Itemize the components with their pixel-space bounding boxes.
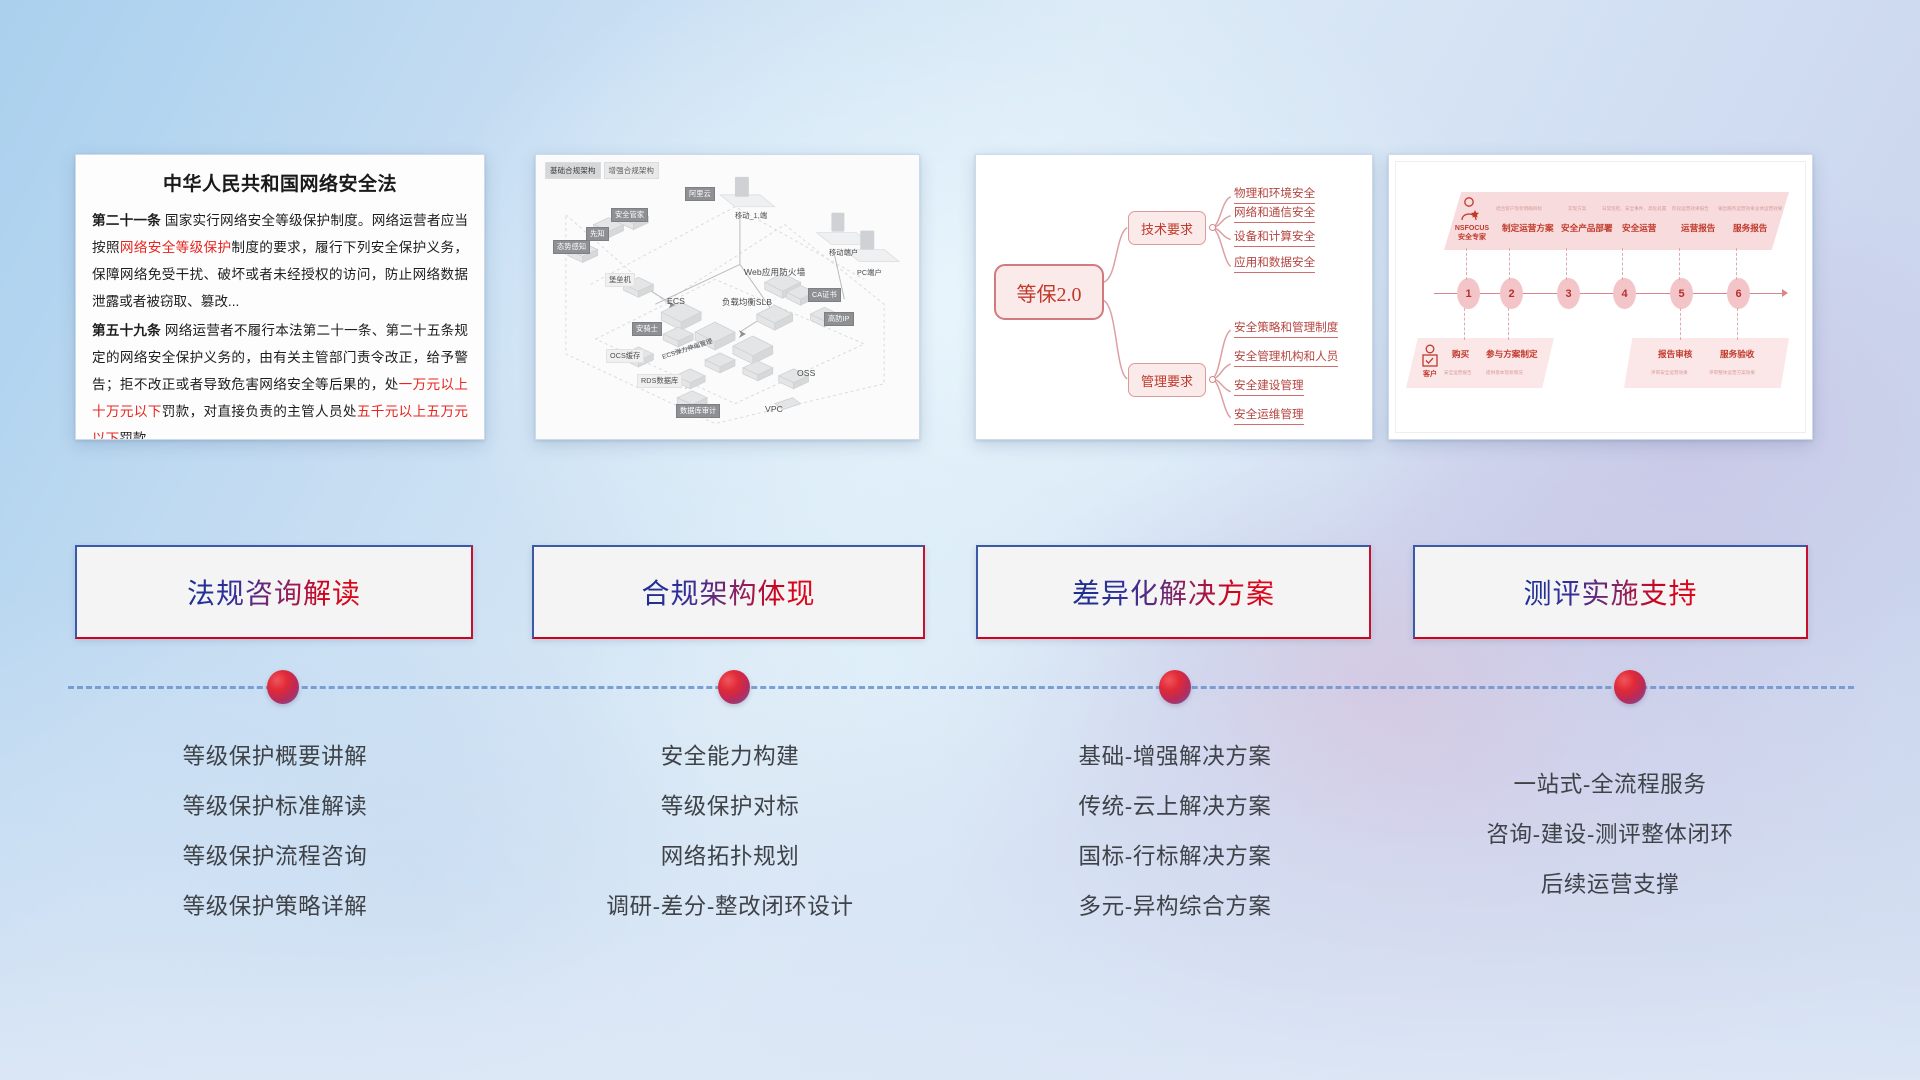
architecture-node-oss: OSS bbox=[794, 367, 818, 379]
customer-person-icon bbox=[1419, 344, 1441, 370]
section-title-box-1[interactable]: 法规咨询解读 bbox=[75, 545, 473, 639]
architecture-node-db-audit: 数据库审计 bbox=[676, 404, 720, 418]
timeline-step-2[interactable]: 2 bbox=[1500, 278, 1523, 309]
preview-cards-row: 中华人民共和国网络安全法 第二十一条 国家实行网络安全等级保护制度。网络运营者应… bbox=[0, 154, 1920, 444]
architecture-node-anqishi: 安骑士 bbox=[632, 322, 662, 336]
architecture-canvas: 基础合规架构 增强合规架构 阿里云 安全管家 先知 态势感知 堡垒机 移动_1,… bbox=[536, 155, 919, 439]
architecture-node-bastion: 堡垒机 bbox=[605, 273, 635, 287]
timeline-top-sub-4: 阶段运营效果报告 bbox=[1672, 206, 1709, 212]
law-article-21-label: 第二十一条 bbox=[92, 213, 161, 228]
timeline-bottom-title-2: 参与方案制定 bbox=[1486, 348, 1538, 360]
timeline-bottom-title-3: 报告审核 bbox=[1658, 348, 1692, 360]
card-service-timeline[interactable]: NSFOCUS 安全专家 客户 制定运营方案 结合客户现状明确目标 安全产品部署… bbox=[1388, 154, 1813, 440]
list-item: 等级保护流程咨询 bbox=[75, 832, 475, 882]
list-item: 国标-行标解决方案 bbox=[965, 832, 1385, 882]
list-item: 后续运营支撑 bbox=[1400, 860, 1820, 910]
section-list-4: 一站式-全流程服务 咨询-建设-测评整体闭环 后续运营支撑 bbox=[1400, 760, 1820, 910]
timeline-top-title-4: 运营报告 bbox=[1681, 222, 1715, 234]
list-item: 基础-增强解决方案 bbox=[965, 732, 1385, 782]
architecture-node-security-mgr: 安全管家 bbox=[611, 208, 648, 222]
law-article-59-label: 第五十九条 bbox=[92, 323, 161, 338]
architecture-node-slb: 负载均衡SLB bbox=[719, 295, 775, 309]
timeline-step-1[interactable]: 1 bbox=[1457, 278, 1480, 309]
mindmap-leaf-policy: 安全策略和管理制度 bbox=[1234, 320, 1338, 338]
timeline-leader-6 bbox=[1736, 248, 1737, 280]
timeline-top-sub-5: 输出服务运营效果总体运营效果 bbox=[1718, 206, 1782, 212]
mindmap-root-node: 等保2.0 bbox=[994, 264, 1104, 320]
expert-person-icon bbox=[1458, 196, 1482, 222]
section-title-box-3[interactable]: 差异化解决方案 bbox=[976, 545, 1371, 639]
list-item: 等级保护标准解读 bbox=[75, 782, 475, 832]
timeline-bottom-sub-1: 安全运营报告 bbox=[1444, 370, 1472, 376]
timeline-bottom-sub-2: 提供基本现状情况 bbox=[1486, 370, 1523, 376]
mindmap-branch-technical: 技术要求 bbox=[1128, 211, 1206, 245]
persona-expert-line1: NSFOCUS bbox=[1455, 225, 1489, 232]
timeline-dashed-line bbox=[68, 686, 1854, 689]
architecture-node-antiddos: 高防IP bbox=[824, 312, 854, 326]
section-title-label-3: 差异化解决方案 bbox=[1072, 572, 1275, 612]
timeline-step-4[interactable]: 4 bbox=[1613, 278, 1636, 309]
architecture-node-situational: 态势感知 bbox=[553, 240, 590, 254]
timeline-marker-3[interactable] bbox=[1159, 670, 1191, 704]
mindmap-leaf-device: 设备和计算安全 bbox=[1234, 229, 1315, 247]
architecture-tab-basic[interactable]: 基础合规架构 bbox=[545, 162, 601, 179]
mindmap-leaf-build: 安全建设管理 bbox=[1234, 378, 1304, 396]
mindmap-branch-management: 管理要求 bbox=[1128, 363, 1206, 397]
timeline-top-sub-3: 日常巡检、安全事件、高危处置 bbox=[1602, 206, 1666, 212]
list-item: 等级保护策略详解 bbox=[75, 882, 475, 932]
section-title-box-2[interactable]: 合规架构体现 bbox=[532, 545, 925, 639]
card-architecture-diagram[interactable]: 基础合规架构 增强合规架构 阿里云 安全管家 先知 态势感知 堡垒机 移动_1,… bbox=[535, 154, 920, 440]
list-item: 网络拓扑规划 bbox=[520, 832, 940, 882]
timeline-leader-b4 bbox=[1737, 308, 1738, 340]
persona-expert-line2: 安全专家 bbox=[1458, 234, 1486, 241]
architecture-node-vpc: VPC bbox=[762, 403, 786, 415]
timeline-step-3[interactable]: 3 bbox=[1557, 278, 1580, 309]
timeline-leader-3 bbox=[1566, 248, 1567, 280]
timeline-arrow-head bbox=[1782, 289, 1788, 297]
list-item: 调研-差分-整改闭环设计 bbox=[520, 882, 940, 932]
architecture-node-mobile-end: 移动_1,端 bbox=[732, 210, 770, 222]
timeline-top-title-5: 服务报告 bbox=[1733, 222, 1767, 234]
section-title-label-2: 合规架构体现 bbox=[641, 572, 815, 612]
timeline-step-5[interactable]: 5 bbox=[1670, 278, 1693, 309]
mindmap-leaf-org: 安全管理机构和人员 bbox=[1234, 349, 1338, 367]
timeline-marker-1[interactable] bbox=[267, 670, 299, 704]
architecture-node-ocs: OCS缓存 bbox=[606, 349, 644, 363]
architecture-tab-enhanced[interactable]: 增强合规架构 bbox=[604, 162, 660, 179]
timeline-leader-b3 bbox=[1680, 308, 1681, 340]
timeline-marker-2[interactable] bbox=[718, 670, 750, 704]
architecture-node-rds: RDS数据库 bbox=[637, 374, 682, 388]
mindmap-canvas: 等保2.0 技术要求 管理要求 物理和环境安全 网络和通信安全 设备和计算安全 … bbox=[976, 155, 1372, 439]
timeline-top-title-2: 安全产品部署 bbox=[1561, 222, 1613, 234]
architecture-node-waf: Web应用防火墙 bbox=[741, 265, 808, 279]
timeline-track bbox=[68, 686, 1854, 689]
architecture-node-ca: CA证书 bbox=[808, 288, 841, 302]
architecture-node-mobile-user: 移动端户 bbox=[826, 247, 861, 259]
timeline-bottom-sub-3: 评审安全运营效果 bbox=[1651, 370, 1688, 376]
section-titles-row: 法规咨询解读 合规架构体现 差异化解决方案 测评实施支持 bbox=[0, 545, 1920, 643]
list-item: 等级保护对标 bbox=[520, 782, 940, 832]
list-item: 咨询-建设-测评整体闭环 bbox=[1400, 810, 1820, 860]
law-article-21-highlight: 网络安全等级保护 bbox=[120, 240, 232, 255]
mindmap-leaf-physical: 物理和环境安全 bbox=[1234, 186, 1315, 204]
mindmap-leaf-app-data: 应用和数据安全 bbox=[1234, 255, 1315, 273]
timeline-bottom-sub-4: 评审整体运营方案效果 bbox=[1709, 370, 1755, 376]
timeline-step-6[interactable]: 6 bbox=[1727, 278, 1750, 309]
timeline-top-sub-1: 结合客户现状明确目标 bbox=[1496, 206, 1542, 212]
architecture-node-ecs: ECS bbox=[664, 295, 688, 307]
section-list-2: 安全能力构建 等级保护对标 网络拓扑规划 调研-差分-整改闭环设计 bbox=[520, 732, 940, 932]
architecture-node-pc-user: PC端户 bbox=[854, 267, 885, 279]
law-title: 中华人民共和国网络安全法 bbox=[92, 169, 468, 196]
law-article-59-text-b: 罚款，对直接负责的主管人员处 bbox=[162, 404, 357, 419]
persona-expert-label: NSFOCUS 安全专家 bbox=[1448, 224, 1496, 242]
law-article-21: 第二十一条 国家实行网络安全等级保护制度。网络运营者应当按照网络安全等级保护制度… bbox=[92, 207, 468, 315]
card-law-document[interactable]: 中华人民共和国网络安全法 第二十一条 国家实行网络安全等级保护制度。网络运营者应… bbox=[75, 154, 485, 440]
mindmap-leaf-ops: 安全运维管理 bbox=[1234, 407, 1304, 425]
timeline-top-title-3: 安全运营 bbox=[1622, 222, 1656, 234]
timeline-top-sub-2: 实现方案 bbox=[1568, 206, 1586, 212]
timeline-bottom-title-1: 购买 bbox=[1452, 348, 1469, 360]
section-lists-row: 等级保护概要讲解 等级保护标准解读 等级保护流程咨询 等级保护策略详解 安全能力… bbox=[0, 732, 1920, 1012]
timeline-marker-4[interactable] bbox=[1614, 670, 1646, 704]
timeline-leader-4 bbox=[1622, 248, 1623, 280]
list-item: 安全能力构建 bbox=[520, 732, 940, 782]
section-title-label-1: 法规咨询解读 bbox=[187, 572, 361, 612]
timeline-leader-1 bbox=[1466, 248, 1467, 280]
section-list-3: 基础-增强解决方案 传统-云上解决方案 国标-行标解决方案 多元-异构综合方案 bbox=[965, 732, 1385, 932]
section-title-box-4[interactable]: 测评实施支持 bbox=[1413, 545, 1808, 639]
mindmap-collapse-dot-technical[interactable] bbox=[1209, 224, 1216, 231]
timeline-leader-2 bbox=[1509, 248, 1510, 280]
mindmap-collapse-dot-management[interactable] bbox=[1209, 376, 1216, 383]
list-item: 传统-云上解决方案 bbox=[965, 782, 1385, 832]
law-article-59-text-c: 罚款。 bbox=[119, 431, 160, 440]
list-item: 一站式-全流程服务 bbox=[1400, 760, 1820, 810]
service-timeline-canvas: NSFOCUS 安全专家 客户 制定运营方案 结合客户现状明确目标 安全产品部署… bbox=[1389, 155, 1812, 439]
list-item: 多元-异构综合方案 bbox=[965, 882, 1385, 932]
architecture-tabs[interactable]: 基础合规架构 增强合规架构 bbox=[545, 162, 659, 179]
timeline-band-bottom-right bbox=[1624, 338, 1789, 388]
law-article-59: 第五十九条 网络运营者不履行本法第二十一条、第二十五条规定的网络安全保护义务的，… bbox=[92, 317, 468, 440]
timeline-leader-b2 bbox=[1508, 308, 1509, 340]
timeline-top-title-1: 制定运营方案 bbox=[1502, 222, 1554, 234]
section-list-1: 等级保护概要讲解 等级保护标准解读 等级保护流程咨询 等级保护策略详解 bbox=[75, 732, 475, 932]
section-title-label-4: 测评实施支持 bbox=[1523, 572, 1697, 612]
card-mindmap[interactable]: 等保2.0 技术要求 管理要求 物理和环境安全 网络和通信安全 设备和计算安全 … bbox=[975, 154, 1373, 440]
list-item: 等级保护概要讲解 bbox=[75, 732, 475, 782]
architecture-node-xianzhi: 先知 bbox=[586, 227, 609, 241]
timeline-leader-5 bbox=[1679, 248, 1680, 280]
mindmap-leaf-network: 网络和通信安全 bbox=[1234, 205, 1315, 223]
persona-customer-label: 客户 bbox=[1416, 370, 1444, 379]
timeline-leader-b1 bbox=[1464, 308, 1465, 340]
timeline-bottom-title-4: 服务验收 bbox=[1720, 348, 1754, 360]
law-document-body: 中华人民共和国网络安全法 第二十一条 国家实行网络安全等级保护制度。网络运营者应… bbox=[76, 155, 484, 440]
architecture-node-aliyun: 阿里云 bbox=[685, 187, 715, 201]
